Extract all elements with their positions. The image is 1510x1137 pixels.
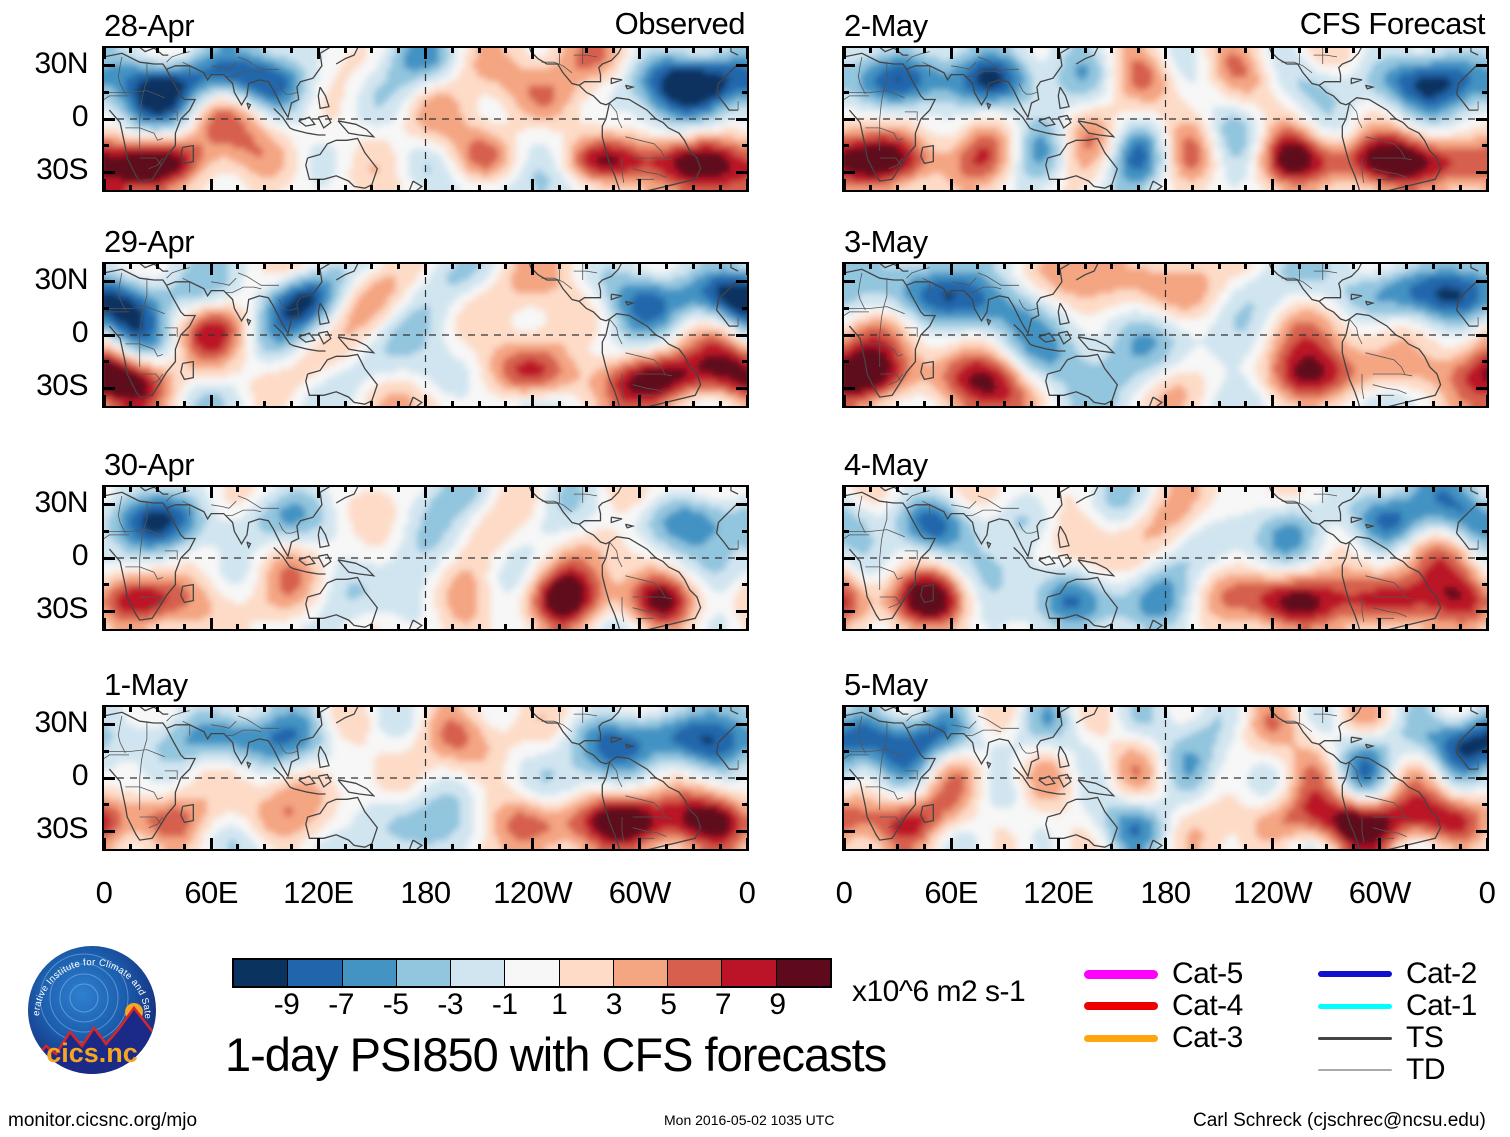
y-axis-label-30N: 30N <box>0 486 88 520</box>
x-tick <box>612 401 615 408</box>
x-tick <box>843 395 846 408</box>
colorbar: -9-7-5-3-113579 <box>232 958 832 1024</box>
x-tick <box>103 46 106 59</box>
panel-date-30-apr: 30-Apr <box>104 447 194 483</box>
x-tick <box>923 401 926 408</box>
y-tick <box>842 171 855 174</box>
x-tick <box>896 844 899 851</box>
x-tick <box>236 46 239 53</box>
legend-item-cat-3: Cat-3 <box>1082 1022 1243 1054</box>
x-tick <box>923 844 926 851</box>
legend-item-td: TD <box>1316 1054 1477 1086</box>
x-tick <box>290 705 293 712</box>
x-tick <box>843 485 846 498</box>
x-tick <box>478 844 481 851</box>
y-tick <box>742 530 749 533</box>
x-tick <box>950 46 953 59</box>
footer-left[interactable]: monitor.cicsnc.org/mjo <box>8 1110 197 1132</box>
x-tick <box>478 401 481 408</box>
x-tick <box>1459 844 1462 851</box>
colorbar-swatch-3 <box>397 960 451 986</box>
x-tick <box>612 485 615 492</box>
x-tick <box>1432 624 1435 631</box>
x-tick <box>424 618 427 631</box>
x-tick <box>478 46 481 53</box>
x-tick <box>1003 262 1006 269</box>
x-tick <box>370 262 373 269</box>
legend-item-cat-5: Cat-5 <box>1082 958 1243 990</box>
x-tick <box>923 185 926 192</box>
x-tick <box>424 262 427 275</box>
x-tick <box>1164 395 1167 408</box>
x-tick <box>558 401 561 408</box>
x-tick <box>1030 844 1033 851</box>
x-tick <box>896 46 899 53</box>
x-tick <box>156 185 159 192</box>
y-tick <box>736 557 749 560</box>
x-tick <box>1432 485 1435 492</box>
x-tick <box>344 705 347 712</box>
x-tick <box>843 838 846 851</box>
x-tick <box>236 185 239 192</box>
x-tick <box>719 401 722 408</box>
panel-date-2-may: 2-May <box>844 8 928 44</box>
x-tick <box>692 185 695 192</box>
x-tick <box>129 844 132 851</box>
x-tick <box>746 262 749 275</box>
x-axis-label-0-col1: 0 <box>784 875 904 911</box>
x-tick <box>478 705 481 712</box>
x-axis-label-60W-col1: 60W <box>1320 875 1440 911</box>
panel-date-1-may: 1-May <box>104 667 188 703</box>
x-tick <box>1378 618 1381 631</box>
x-tick <box>183 262 186 269</box>
x-tick <box>1244 46 1247 53</box>
x-tick <box>719 262 722 269</box>
x-tick <box>1405 705 1408 712</box>
x-tick <box>1405 262 1408 269</box>
y-tick <box>102 118 115 121</box>
x-tick <box>558 844 561 851</box>
x-axis-label-120W-col1: 120W <box>1213 875 1333 911</box>
y-tick <box>1476 387 1489 390</box>
x-tick <box>397 401 400 408</box>
x-tick <box>1271 395 1274 408</box>
x-tick <box>1298 401 1301 408</box>
x-tick <box>1057 262 1060 275</box>
y-tick <box>102 64 115 67</box>
y-tick <box>1476 334 1489 337</box>
y-axis-label-30N: 30N <box>0 263 88 297</box>
x-tick <box>1137 185 1140 192</box>
x-tick <box>1164 618 1167 631</box>
x-tick <box>370 485 373 492</box>
map-panel-1-may <box>102 705 749 851</box>
x-tick <box>424 485 427 498</box>
x-tick <box>665 844 668 851</box>
x-tick <box>1110 705 1113 712</box>
x-tick <box>896 485 899 492</box>
y-axis-label-0: 0 <box>0 316 88 350</box>
x-axis-label-60E-col1: 60E <box>891 875 1011 911</box>
x-tick <box>1218 844 1221 851</box>
map-panel-28-apr <box>102 46 749 192</box>
x-tick <box>843 179 846 192</box>
x-tick <box>1030 46 1033 53</box>
y-axis-label-30N: 30N <box>0 706 88 740</box>
x-tick <box>1432 46 1435 53</box>
x-tick <box>665 401 668 408</box>
y-tick <box>1476 280 1489 283</box>
x-tick <box>1084 401 1087 408</box>
x-tick <box>692 46 695 53</box>
x-tick <box>665 262 668 269</box>
y-tick <box>742 360 749 363</box>
x-tick <box>344 624 347 631</box>
y-tick <box>102 171 115 174</box>
x-tick <box>1030 262 1033 269</box>
map-panel-29-apr <box>102 262 749 408</box>
x-tick <box>692 262 695 269</box>
x-tick <box>210 262 213 275</box>
footer-timestamp: Mon 2016-05-02 1035 UTC <box>664 1112 834 1128</box>
x-tick <box>558 624 561 631</box>
x-tick <box>1003 401 1006 408</box>
x-tick <box>397 46 400 53</box>
x-tick <box>976 485 979 492</box>
x-tick <box>317 485 320 498</box>
x-tick <box>1405 185 1408 192</box>
x-tick <box>1378 838 1381 851</box>
y-tick <box>736 387 749 390</box>
y-axis-label-30S: 30S <box>0 592 88 626</box>
x-tick <box>1244 624 1247 631</box>
x-tick <box>1405 844 1408 851</box>
y-tick <box>842 360 849 363</box>
x-tick <box>183 624 186 631</box>
y-tick <box>842 118 855 121</box>
x-tick <box>183 485 186 492</box>
x-tick <box>1137 485 1140 492</box>
x-tick <box>1191 485 1194 492</box>
x-tick <box>424 705 427 718</box>
y-tick <box>842 777 855 780</box>
legend-line-cat-3 <box>1082 1035 1160 1042</box>
panel-date-5-may: 5-May <box>844 667 928 703</box>
colorbar-swatch-4 <box>451 960 505 986</box>
x-tick <box>869 844 872 851</box>
map-panel-4-may <box>842 485 1489 631</box>
x-tick <box>638 618 641 631</box>
x-tick <box>397 262 400 269</box>
y-tick <box>102 803 109 806</box>
x-tick <box>1164 485 1167 498</box>
x-tick <box>1486 705 1489 718</box>
x-tick <box>504 624 507 631</box>
x-tick <box>1003 185 1006 192</box>
x-tick <box>1432 401 1435 408</box>
x-tick <box>1218 705 1221 712</box>
legend-line-ts <box>1316 1037 1394 1040</box>
x-tick <box>129 624 132 631</box>
x-tick <box>1352 262 1355 269</box>
x-tick <box>869 624 872 631</box>
logo-wordmark: cics.nc <box>46 1038 138 1068</box>
x-tick <box>424 179 427 192</box>
x-tick <box>370 624 373 631</box>
storm-legend-left: Cat-5Cat-4Cat-3 <box>1082 958 1243 1054</box>
x-tick <box>1271 46 1274 59</box>
x-tick <box>397 705 400 712</box>
x-tick <box>210 838 213 851</box>
x-tick <box>719 46 722 53</box>
x-tick <box>103 618 106 631</box>
x-tick <box>950 838 953 851</box>
x-tick <box>1352 485 1355 492</box>
x-tick <box>1003 844 1006 851</box>
x-tick <box>1084 485 1087 492</box>
y-tick <box>102 387 115 390</box>
x-tick <box>1137 844 1140 851</box>
x-tick <box>1271 262 1274 275</box>
x-tick <box>531 179 534 192</box>
x-tick <box>896 185 899 192</box>
x-tick <box>1271 838 1274 851</box>
x-tick <box>236 262 239 269</box>
y-tick <box>736 171 749 174</box>
x-tick <box>950 395 953 408</box>
legend-label-cat-2: Cat-2 <box>1406 957 1477 991</box>
x-tick <box>1218 185 1221 192</box>
x-tick <box>612 844 615 851</box>
y-tick <box>1482 360 1489 363</box>
x-tick <box>1378 46 1381 59</box>
x-tick <box>638 838 641 851</box>
x-tick <box>923 705 926 712</box>
x-tick <box>1325 485 1328 492</box>
x-tick <box>210 618 213 631</box>
x-tick <box>746 618 749 631</box>
y-tick <box>1476 830 1489 833</box>
x-tick <box>976 624 979 631</box>
x-tick <box>1352 185 1355 192</box>
x-tick <box>451 185 454 192</box>
y-tick <box>742 307 749 310</box>
colorbar-swatches <box>232 958 832 988</box>
colorbar-tick-5: 5 <box>660 988 676 1022</box>
x-tick <box>1218 262 1221 269</box>
x-tick <box>1352 705 1355 712</box>
x-tick <box>558 705 561 712</box>
y-tick <box>1476 777 1489 780</box>
y-tick <box>742 803 749 806</box>
colorbar-tick--3: -3 <box>437 988 463 1022</box>
legend-line-cat-4 <box>1082 1002 1160 1010</box>
y-axis-label-30S: 30S <box>0 153 88 187</box>
y-tick <box>736 723 749 726</box>
map-panel-5-may <box>842 705 1489 851</box>
y-tick <box>842 750 849 753</box>
colorbar-tick-3: 3 <box>606 988 622 1022</box>
x-tick <box>504 844 507 851</box>
x-tick <box>719 485 722 492</box>
x-tick <box>746 705 749 718</box>
x-tick <box>1486 395 1489 408</box>
x-tick <box>236 401 239 408</box>
y-tick <box>736 334 749 337</box>
x-tick <box>1298 46 1301 53</box>
x-tick <box>896 401 899 408</box>
x-tick <box>585 844 588 851</box>
x-tick <box>1003 624 1006 631</box>
x-tick <box>1110 262 1113 269</box>
x-tick <box>692 485 695 492</box>
y-tick <box>102 360 109 363</box>
x-tick <box>103 485 106 498</box>
x-tick <box>1191 624 1194 631</box>
x-tick <box>1486 179 1489 192</box>
x-tick <box>129 185 132 192</box>
x-tick <box>692 401 695 408</box>
x-tick <box>558 485 561 492</box>
x-tick <box>317 838 320 851</box>
x-axis-label-0-col0: 0 <box>44 875 164 911</box>
x-tick <box>692 844 695 851</box>
x-tick <box>317 618 320 631</box>
x-tick <box>1003 485 1006 492</box>
x-tick <box>344 46 347 53</box>
x-tick <box>1271 705 1274 718</box>
y-tick <box>102 307 109 310</box>
x-tick <box>236 844 239 851</box>
x-tick <box>1084 624 1087 631</box>
y-tick <box>1482 144 1489 147</box>
x-tick <box>1325 46 1328 53</box>
colorbar-tick--5: -5 <box>383 988 409 1022</box>
x-tick <box>129 262 132 269</box>
x-tick <box>397 624 400 631</box>
x-tick <box>478 262 481 269</box>
x-tick <box>1352 844 1355 851</box>
legend-label-ts: TS <box>1406 1021 1443 1055</box>
x-tick <box>869 485 872 492</box>
y-tick <box>842 144 849 147</box>
x-tick <box>976 705 979 712</box>
x-tick <box>1057 618 1060 631</box>
x-tick <box>451 262 454 269</box>
x-tick <box>478 185 481 192</box>
y-tick <box>102 503 115 506</box>
x-tick <box>531 485 534 498</box>
x-tick <box>451 705 454 712</box>
x-tick <box>585 46 588 53</box>
y-tick <box>1476 118 1489 121</box>
x-tick <box>317 46 320 59</box>
x-tick <box>531 618 534 631</box>
colorbar-swatch-9 <box>722 960 776 986</box>
x-tick <box>210 46 213 59</box>
x-tick <box>1352 624 1355 631</box>
legend-item-cat-4: Cat-4 <box>1082 990 1243 1022</box>
panel-date-28-apr: 28-Apr <box>104 8 194 44</box>
x-tick <box>129 401 132 408</box>
x-tick <box>370 844 373 851</box>
legend-line-cat-1 <box>1316 1004 1394 1009</box>
x-tick <box>923 624 926 631</box>
x-tick <box>290 624 293 631</box>
colorbar-tick-7: 7 <box>715 988 731 1022</box>
x-tick <box>1057 395 1060 408</box>
y-tick <box>1476 610 1489 613</box>
storm-legend-right: Cat-2Cat-1TSTD <box>1316 958 1477 1086</box>
x-tick <box>843 618 846 631</box>
x-tick <box>585 485 588 492</box>
x-tick <box>103 395 106 408</box>
x-tick <box>424 395 427 408</box>
x-tick <box>1191 844 1194 851</box>
x-tick <box>1244 262 1247 269</box>
y-tick <box>1482 530 1489 533</box>
x-tick <box>129 485 132 492</box>
x-tick <box>236 705 239 712</box>
y-tick <box>102 723 115 726</box>
x-tick <box>1057 838 1060 851</box>
x-tick <box>923 485 926 492</box>
colorbar-units-label: x10^6 m2 s-1 <box>852 975 1025 1009</box>
x-tick <box>1057 46 1060 59</box>
colorbar-tick--7: -7 <box>328 988 354 1022</box>
legend-item-cat-1: Cat-1 <box>1316 990 1477 1022</box>
y-tick <box>842 64 855 67</box>
x-tick <box>1459 401 1462 408</box>
y-tick <box>1476 723 1489 726</box>
legend-line-td <box>1316 1069 1394 1071</box>
y-tick <box>842 723 855 726</box>
x-tick <box>1486 262 1489 275</box>
x-axis-label-60W-col0: 60W <box>580 875 700 911</box>
x-tick <box>263 485 266 492</box>
x-tick <box>1325 401 1328 408</box>
x-tick <box>1459 262 1462 269</box>
y-tick <box>102 144 109 147</box>
colorbar-tick-labels: -9-7-5-3-113579 <box>232 988 832 1024</box>
x-tick <box>103 262 106 275</box>
x-tick <box>103 179 106 192</box>
x-tick <box>1057 179 1060 192</box>
y-tick <box>842 503 855 506</box>
x-tick <box>1084 844 1087 851</box>
x-tick <box>263 185 266 192</box>
x-tick <box>1030 185 1033 192</box>
x-tick <box>558 46 561 53</box>
x-tick <box>1325 262 1328 269</box>
x-tick <box>103 838 106 851</box>
x-tick <box>638 395 641 408</box>
x-tick <box>370 401 373 408</box>
cics-nc-logo: Cooperative Institute for Climate and Sa… <box>22 940 162 1080</box>
x-tick <box>665 46 668 53</box>
x-tick <box>1057 485 1060 498</box>
x-tick <box>1110 485 1113 492</box>
legend-label-td: TD <box>1406 1053 1445 1087</box>
x-tick <box>183 46 186 53</box>
y-tick <box>1482 803 1489 806</box>
x-tick <box>692 705 695 712</box>
x-tick <box>451 46 454 53</box>
x-tick <box>344 401 347 408</box>
x-tick <box>1378 262 1381 275</box>
x-tick <box>397 485 400 492</box>
